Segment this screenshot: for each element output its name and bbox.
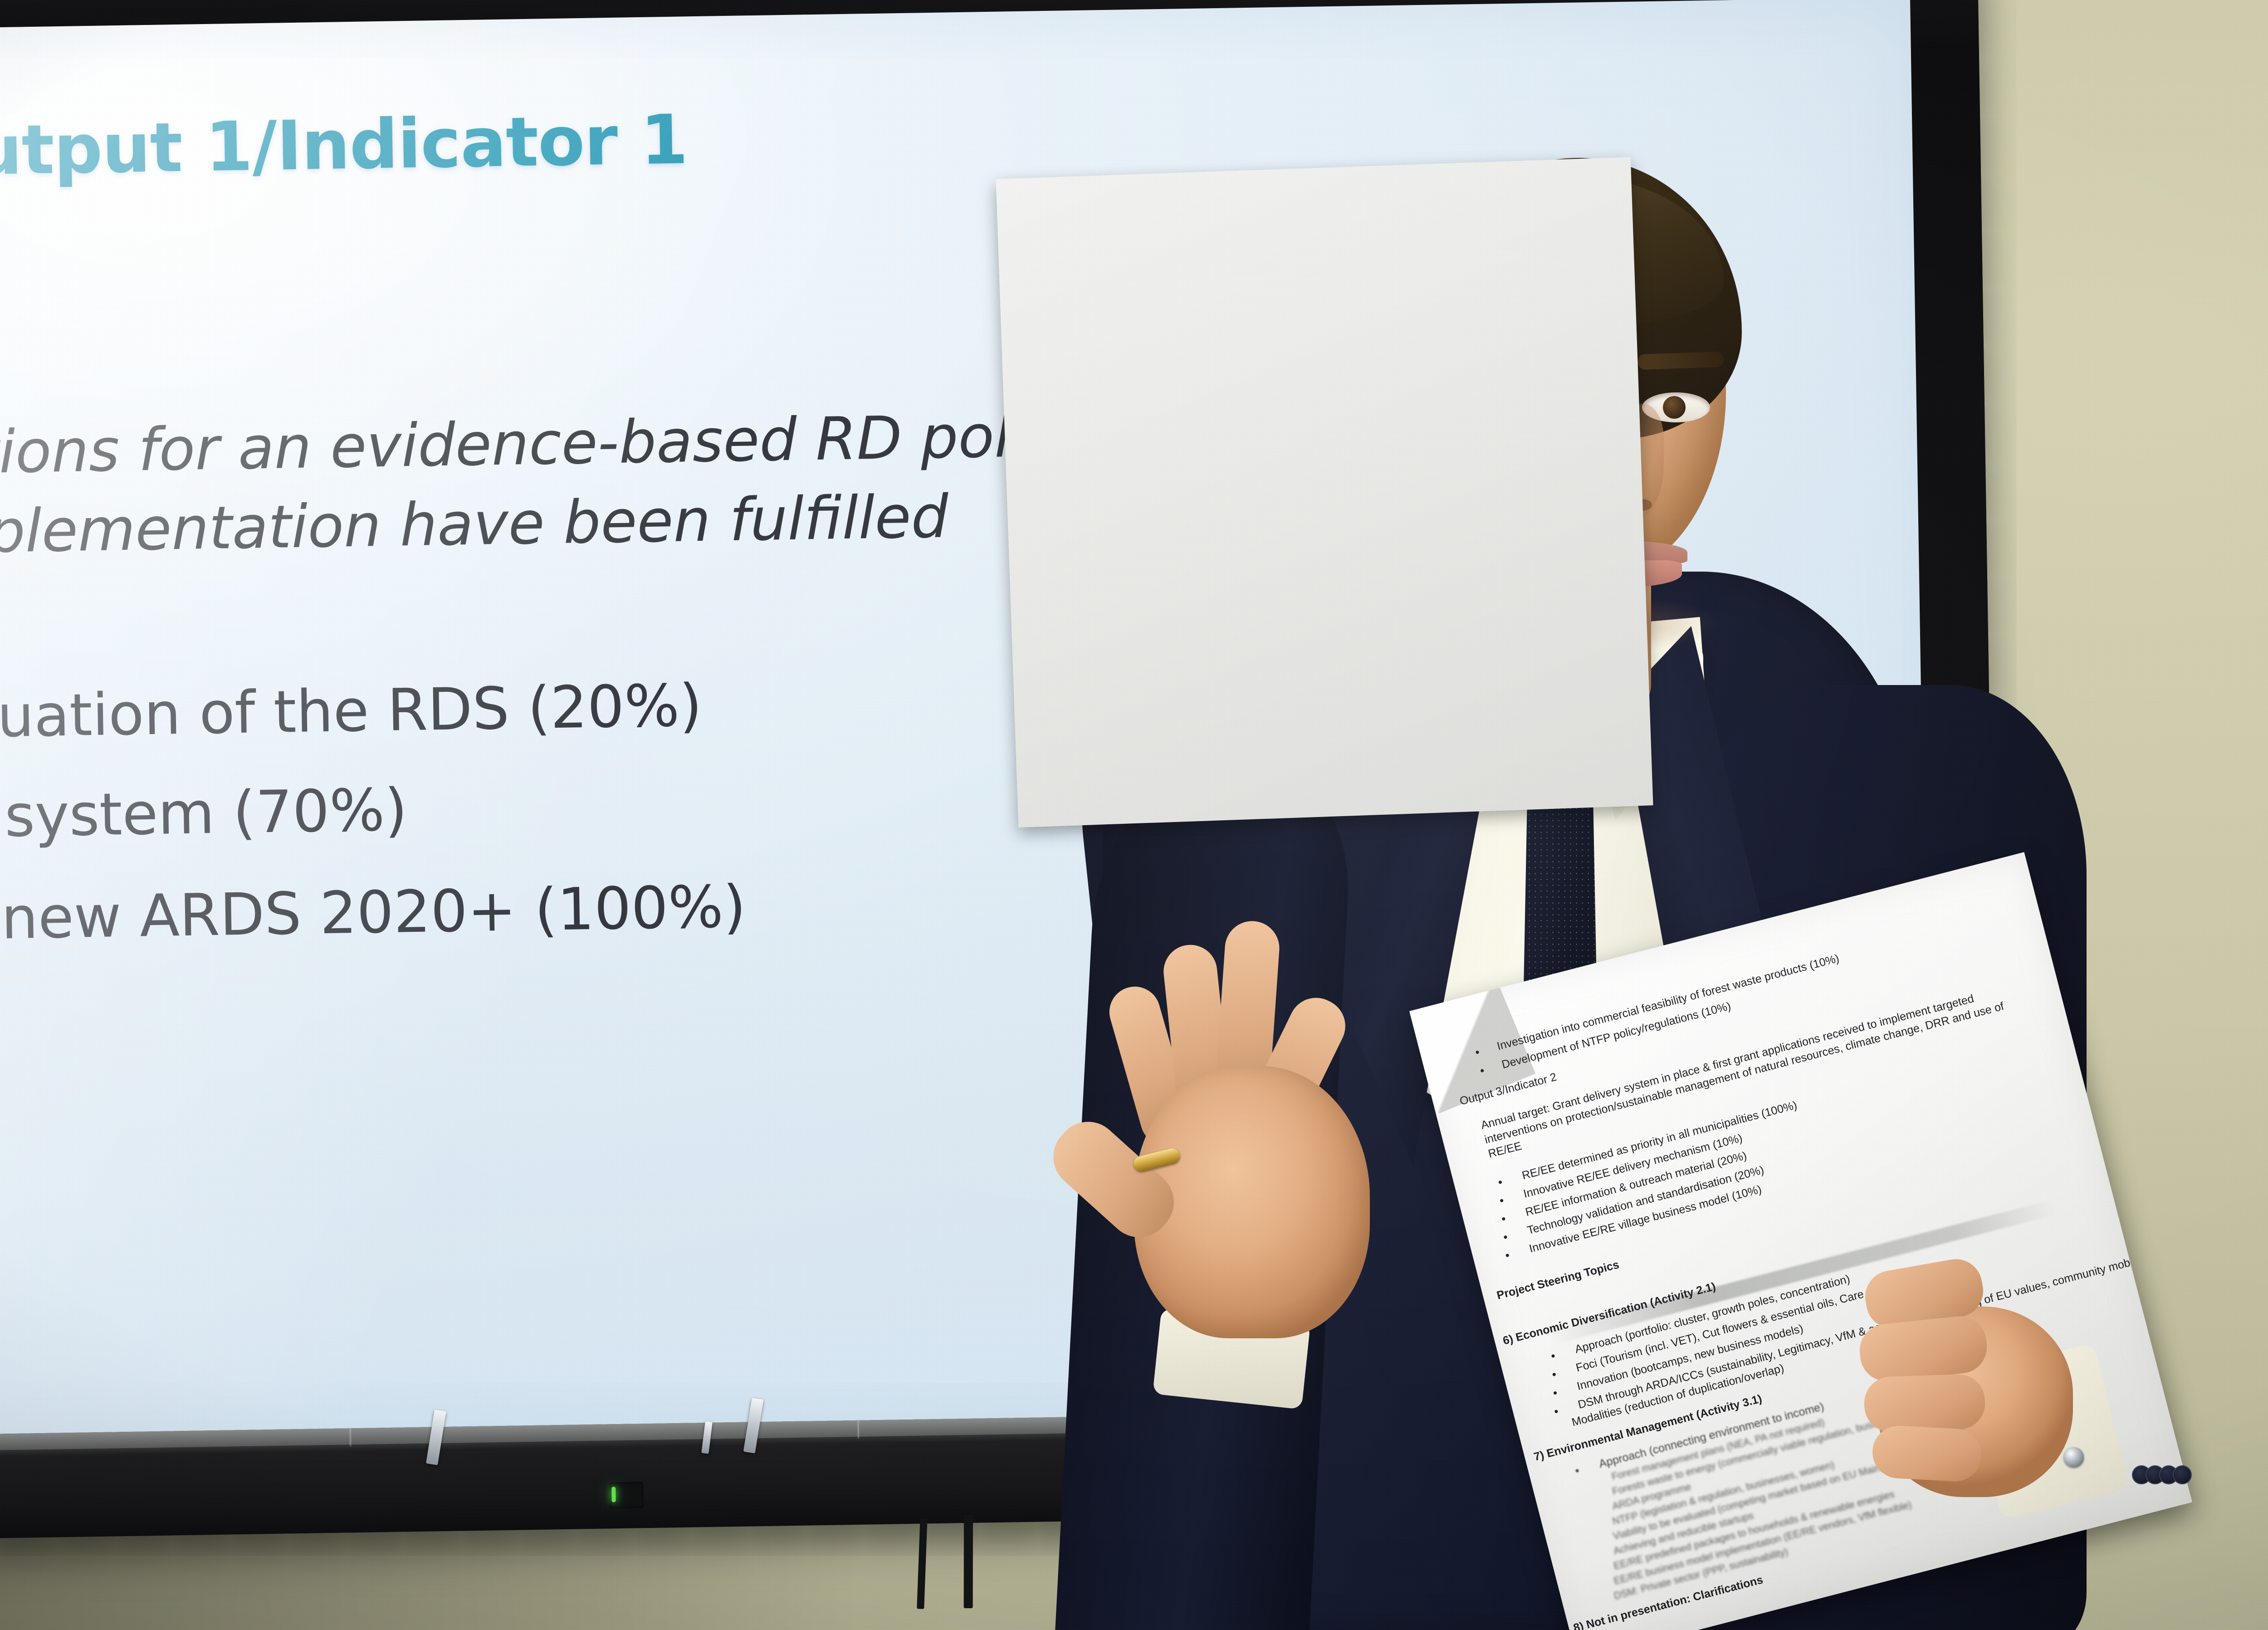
rail-seam [857,1420,860,1439]
finger-little-right [1871,1424,1983,1483]
document-back-page [996,157,1653,827]
bullet-icon: • [1496,1175,1504,1189]
cufflink-icon [2064,1447,2084,1467]
raised-hand [1080,916,1433,1361]
slide-line-3: D implementation have been fulfilled [0,482,949,568]
bullet-icon: • [1498,1194,1505,1208]
slide-line-5: &E system (70%) [0,776,408,852]
sleeve-buttons [2132,1465,2200,1490]
finger-ring-right [1863,1373,1986,1433]
rail-seam [349,1428,352,1446]
display-cable [964,1515,973,1608]
eyebrow-right [1637,352,1724,370]
bullet-icon: • [1500,1212,1508,1226]
bullet-icon: • [1551,1385,1559,1400]
sleeve-button [2173,1465,2192,1484]
slide-line-6: he new ARDS 2020+ (100%) [0,873,747,954]
slide-line-4: evaluation of the RDS (20%) [0,672,703,753]
hand-holding-document [1851,1252,2132,1552]
bullet-icon: • [1574,1464,1581,1478]
slide-title: Output 1/Indicator 1 [0,100,688,191]
doc-paragraph: Annual target: Grant delivery system in … [1479,978,2035,1161]
slide-line-2: onditions for an evidence-based RD poli [0,401,1027,489]
screenshot-root: Output 1/Indicator 1 гet onditions for a… [0,0,2268,1630]
doc-section-heading: Project Steering Topics [1495,1257,1621,1302]
power-led-icon [610,1482,644,1508]
iris [1663,396,1686,419]
bullet-icon: • [1504,1248,1511,1263]
presenter: • Investigation into commercial feasibil… [1034,150,2268,1630]
bullet-icon: • [1550,1367,1558,1382]
bullet-icon: • [1553,1404,1560,1419]
bullet-icon: • [1502,1230,1510,1244]
bullet-icon: • [1549,1349,1557,1363]
